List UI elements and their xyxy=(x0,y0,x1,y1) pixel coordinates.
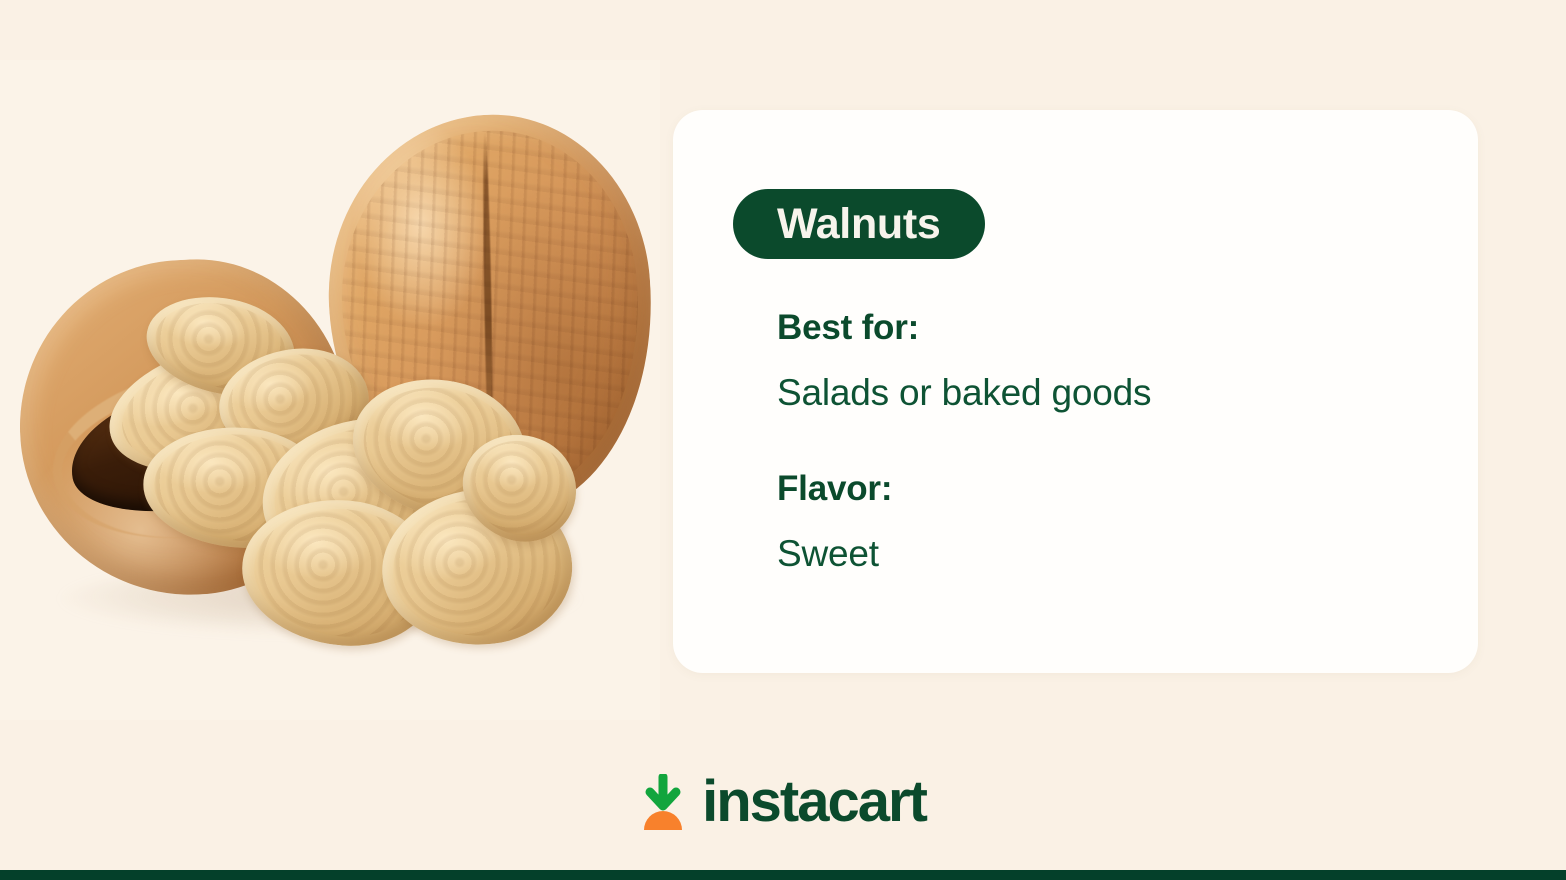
product-title-label: Walnuts xyxy=(777,203,941,246)
attribute-value-flavor: Sweet xyxy=(777,533,1430,576)
product-title-badge: Walnuts xyxy=(733,189,985,259)
attribute-label-flavor: Flavor: xyxy=(777,469,1430,509)
product-image xyxy=(0,60,660,720)
bottom-accent-bar xyxy=(0,870,1566,880)
attribute-best-for: Best for: Salads or baked goods xyxy=(777,308,1430,415)
product-info-card: Walnuts Best for: Salads or baked goods … xyxy=(673,110,1478,673)
carrot-icon xyxy=(640,774,686,830)
walnut-loose-kernel xyxy=(232,360,577,660)
attribute-value-best-for: Salads or baked goods xyxy=(777,372,1430,415)
product-attribute-list: Best for: Salads or baked goods Flavor: … xyxy=(777,308,1430,576)
product-image-backdrop xyxy=(0,60,660,720)
page-root: Walnuts Best for: Salads or baked goods … xyxy=(0,0,1566,880)
attribute-label-best-for: Best for: xyxy=(777,308,1430,348)
brand-wordmark: instacart xyxy=(702,773,926,831)
brand-lockup: instacart xyxy=(0,762,1566,842)
attribute-flavor: Flavor: Sweet xyxy=(777,469,1430,576)
